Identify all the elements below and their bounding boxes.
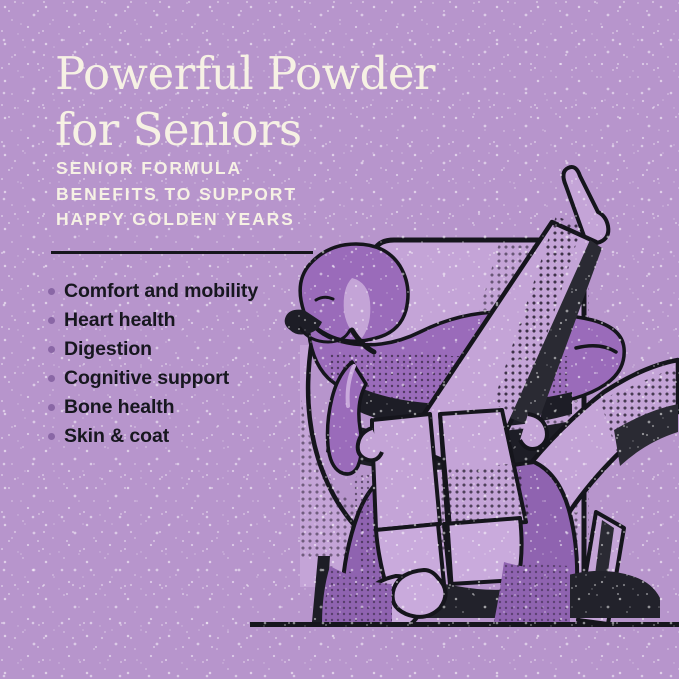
bullet-dot-icon (48, 346, 55, 353)
benefit-label: Comfort and mobility (64, 280, 258, 303)
list-item: Heart health (48, 306, 258, 335)
benefit-label: Skin & coat (64, 425, 169, 448)
list-item: Comfort and mobility (48, 277, 258, 306)
bullet-dot-icon (48, 404, 55, 411)
ground-line (250, 622, 679, 627)
list-item: Bone health (48, 393, 258, 422)
promo-poster: Powerful Powder for Seniors SENIOR FORMU… (0, 0, 679, 679)
bullet-dot-icon (48, 375, 55, 382)
page-title: Powerful Powder for Seniors (55, 46, 525, 158)
benefit-label: Digestion (64, 338, 152, 361)
list-item: Digestion (48, 335, 258, 364)
benefit-label: Heart health (64, 309, 176, 332)
bullet-dot-icon (48, 433, 55, 440)
horizontal-rule (51, 251, 313, 254)
benefit-label: Bone health (64, 396, 175, 419)
bullet-dot-icon (48, 288, 55, 295)
bullet-dot-icon (48, 317, 55, 324)
benefit-label: Cognitive support (64, 367, 229, 390)
page-subtitle: SENIOR FORMULA BENEFITS TO SUPPORT HAPPY… (56, 156, 386, 233)
list-item: Cognitive support (48, 364, 258, 393)
list-item: Skin & coat (48, 422, 258, 451)
benefits-list: Comfort and mobility Heart health Digest… (48, 277, 258, 451)
